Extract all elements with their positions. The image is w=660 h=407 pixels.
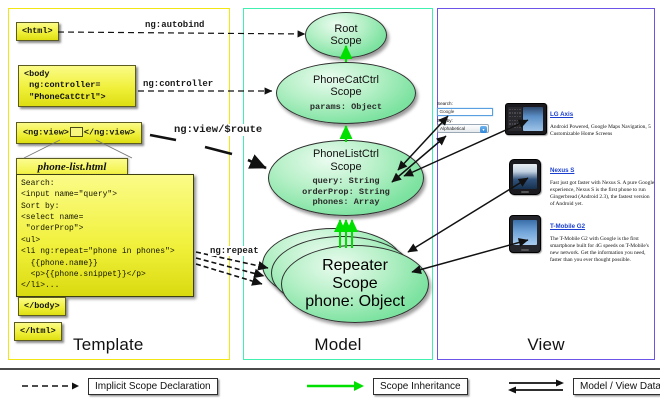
- code-tag-ngview: <ng:view></ng:view>: [16, 122, 142, 144]
- chevron-down-icon: ▾: [480, 126, 487, 133]
- phone-text: LG Axis Android Powered, Google Maps Nav…: [550, 103, 655, 138]
- phone-results-list: LG Axis Android Powered, Google Maps Nav…: [505, 103, 655, 271]
- sort-select-value: Alphabetical: [440, 126, 465, 131]
- view-search-form: Search: Google Sort by: Alphabetical▾: [437, 101, 497, 133]
- legend: Implicit Scope Declaration Scope Inherit…: [0, 368, 660, 407]
- list-item[interactable]: Nexus S Fast just got faster with Nexus …: [505, 159, 655, 213]
- scope-phonecatctrl-name: PhoneCatCtrlScope: [313, 74, 379, 99]
- phone-name-link[interactable]: LG Axis: [550, 111, 573, 118]
- list-item[interactable]: LG Axis Android Powered, Google Maps Nav…: [505, 103, 655, 157]
- phone-thumbnail-nexus-s: [505, 159, 537, 195]
- scope-root: RootScope: [305, 12, 387, 58]
- sort-label: Sort by:: [437, 118, 497, 124]
- phone-text: Nexus S Fast just got faster with Nexus …: [550, 159, 655, 208]
- column-label-model: Model: [244, 335, 432, 355]
- phone-list-note-filename: phone-list.html: [16, 158, 128, 174]
- list-item[interactable]: T-Mobile G2 The T-Mobile G2 with Google …: [505, 215, 655, 269]
- diagram-canvas: Template Model View: [0, 0, 660, 405]
- code-tag-body-close: </body>: [18, 297, 66, 316]
- scope-phonecatctrl-props: params: Object: [310, 102, 382, 112]
- code-tag-body: <body ng:controller= "PhoneCatCtrl">: [18, 65, 136, 107]
- phone-image: [509, 159, 541, 195]
- phone-snippet: The T-Mobile G2 with Google is the first…: [550, 236, 655, 265]
- ngview-close-tag: </ng:view>: [84, 127, 135, 137]
- scope-repeater-layer-front: RepeaterScope phone: Object: [281, 245, 429, 323]
- ngview-open-tag: <ng:view>: [23, 127, 69, 137]
- dashed-arrow-icon: [20, 377, 82, 395]
- scope-phonelistctrl-name: PhoneListCtrlScope: [313, 148, 379, 173]
- phone-screen: [513, 220, 537, 245]
- code-tag-html-close: </html>: [14, 322, 62, 341]
- phone-text: T-Mobile G2 The T-Mobile G2 with Google …: [550, 215, 655, 264]
- scope-repeater-stack: RepeaterScope phone: Object: [262, 228, 430, 328]
- scope-phonelistctrl-props: query: String orderProp: String phones: …: [302, 176, 390, 207]
- phone-screen: [513, 164, 537, 189]
- label-ng-repeat: ng:repeat: [208, 246, 261, 256]
- scope-root-name: RootScope: [330, 23, 361, 48]
- phone-thumbnail-lg-axis: [505, 103, 547, 135]
- scope-repeater-props: phone: Object: [305, 293, 405, 311]
- green-arrow-icon: [305, 377, 367, 395]
- phone-home-button: [521, 249, 529, 251]
- phone-snippet: Android Powered, Google Maps Navigation,…: [550, 124, 655, 138]
- scope-phonecatctrl: PhoneCatCtrlScope params: Object: [276, 62, 416, 124]
- search-label: Search:: [437, 101, 497, 107]
- phone-name-link[interactable]: T-Mobile G2: [550, 223, 585, 230]
- phone-thumbnail-tmobile-g2: [505, 215, 537, 253]
- scope-repeater-name: RepeaterScope: [322, 257, 388, 293]
- legend-item-inheritance: Scope Inheritance: [305, 377, 468, 395]
- scope-phonelistctrl: PhoneListCtrlScope query: String orderPr…: [268, 140, 424, 216]
- double-arrow-icon: [505, 377, 567, 395]
- phone-keyboard: [508, 107, 522, 131]
- legend-item-implicit: Implicit Scope Declaration: [20, 377, 218, 395]
- label-ng-view-route: ng:view/$route: [172, 124, 264, 136]
- code-tag-html: <html>: [16, 22, 59, 41]
- legend-label-databinding: Model / View Data-binding: [573, 378, 660, 395]
- ngview-placeholder-slot: [70, 127, 83, 137]
- legend-item-databinding: Model / View Data-binding: [505, 377, 660, 395]
- legend-label-implicit: Implicit Scope Declaration: [88, 378, 218, 395]
- phone-snippet: Fast just got faster with Nexus S. A pur…: [550, 180, 655, 209]
- phone-image: [509, 215, 541, 253]
- column-label-view: View: [438, 335, 654, 355]
- legend-label-inheritance: Scope Inheritance: [373, 378, 468, 395]
- label-ng-autobind: ng:autobind: [143, 20, 206, 30]
- sort-select[interactable]: Alphabetical▾: [437, 124, 489, 133]
- phone-screen: [523, 107, 543, 131]
- search-input[interactable]: Google: [437, 108, 493, 116]
- label-ng-controller: ng:controller: [141, 79, 215, 89]
- phone-list-note-code: Search: <input name="query"> Sort by: <s…: [16, 174, 194, 297]
- phone-home-button: [521, 191, 529, 193]
- phone-list-note: phone-list.html Search: <input name="que…: [16, 158, 194, 297]
- phone-image: [505, 103, 547, 135]
- phone-name-link[interactable]: Nexus S: [550, 167, 574, 174]
